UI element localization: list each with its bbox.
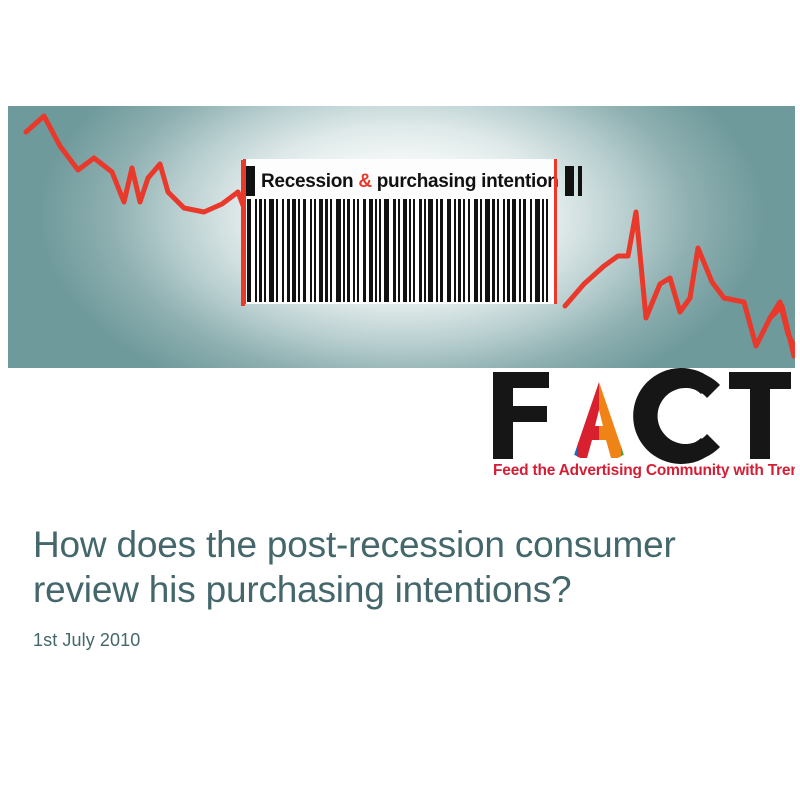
barcode-bar xyxy=(403,199,407,302)
barcode-bar xyxy=(497,199,499,302)
barcode-bar xyxy=(319,199,323,302)
barcode-caption-part-2: purchasing intention xyxy=(372,171,559,192)
barcode-bar xyxy=(428,199,433,302)
barcode-right-red-edge xyxy=(554,159,557,304)
title-block: How does the post-recession consumer rev… xyxy=(33,522,763,651)
barcode-bar xyxy=(474,199,478,302)
barcode-bar xyxy=(485,199,490,302)
barcode-bar xyxy=(409,199,411,302)
barcode-bar xyxy=(264,199,266,302)
fact-logo: Feed the Advertising Community with Tren… xyxy=(489,368,795,478)
barcode-guard-bar-right-1 xyxy=(565,166,574,196)
chart-line-right-tail xyxy=(770,302,795,348)
barcode-bar xyxy=(519,199,521,302)
barcode-bar xyxy=(530,199,532,302)
chart-line-left xyxy=(26,116,238,212)
barcode-bar xyxy=(454,199,456,302)
barcode-bar xyxy=(269,199,274,302)
barcode-bar xyxy=(325,199,328,302)
barcode-title-row: Recession & purchasing intention xyxy=(246,165,554,197)
logo-letter-f xyxy=(493,372,551,459)
barcode-bar xyxy=(447,199,451,302)
barcode-bar xyxy=(303,199,306,302)
barcode-caption-ampersand: & xyxy=(358,171,371,192)
barcode-bar xyxy=(259,199,262,302)
barcode-bar xyxy=(282,199,284,302)
barcode-caption-part-1: Recession xyxy=(261,171,358,192)
barcode-bar xyxy=(314,199,316,302)
logo-letter-t xyxy=(729,372,791,459)
barcode-bar xyxy=(255,199,257,302)
barcode-bar xyxy=(440,199,443,302)
barcode-bar xyxy=(458,199,461,302)
page-title-line-1: How does the post-recession consumer xyxy=(33,524,676,565)
slide-date: 1st July 2010 xyxy=(33,630,763,651)
barcode-bar xyxy=(492,199,495,302)
barcode-bar xyxy=(436,199,438,302)
barcode-bar xyxy=(353,199,355,302)
barcode-bar xyxy=(369,199,373,302)
barcode-bar xyxy=(347,199,350,302)
page-title: How does the post-recession consumer rev… xyxy=(33,522,763,612)
barcode-bar xyxy=(413,199,415,302)
barcode-bar xyxy=(247,199,251,302)
barcode-caption: Recession & purchasing intention xyxy=(255,172,565,191)
barcode-guard-bar-left-1 xyxy=(246,166,255,196)
barcode-bar xyxy=(357,199,359,302)
barcode-bar xyxy=(393,199,396,302)
barcode-bar xyxy=(384,199,389,302)
barcode-bar xyxy=(287,199,290,302)
barcode-bar xyxy=(503,199,505,302)
barcode-bar xyxy=(363,199,366,302)
barcode-graphic: Recession & purchasing intention xyxy=(243,159,557,304)
page-title-line-2: review his purchasing intentions? xyxy=(33,569,571,610)
barcode-bars xyxy=(247,199,553,302)
barcode-bar xyxy=(398,199,400,302)
barcode-bar xyxy=(512,199,516,302)
barcode-left-red-edge xyxy=(243,159,246,304)
barcode-bar xyxy=(542,199,544,302)
barcode-guard-bar-right-2 xyxy=(578,166,582,196)
barcode-bar xyxy=(480,199,482,302)
barcode-bar xyxy=(463,199,465,302)
barcode-bar xyxy=(507,199,510,302)
barcode-bar xyxy=(379,199,381,302)
barcode-bar xyxy=(336,199,341,302)
barcode-bar xyxy=(535,199,540,302)
barcode-bar xyxy=(310,199,312,302)
barcode-bar xyxy=(424,199,426,302)
barcode-bar xyxy=(330,199,332,302)
logo-tagline: Feed the Advertising Community with Tren… xyxy=(493,462,795,478)
barcode-bar xyxy=(298,199,300,302)
barcode-bar xyxy=(468,199,470,302)
barcode-bar xyxy=(343,199,345,302)
barcode-bar xyxy=(419,199,422,302)
barcode-bar xyxy=(292,199,296,302)
barcode-bar xyxy=(546,199,548,302)
barcode-bar xyxy=(523,199,526,302)
barcode-bar xyxy=(276,199,278,302)
barcode-bar xyxy=(375,199,377,302)
chart-line-right xyxy=(565,212,794,356)
